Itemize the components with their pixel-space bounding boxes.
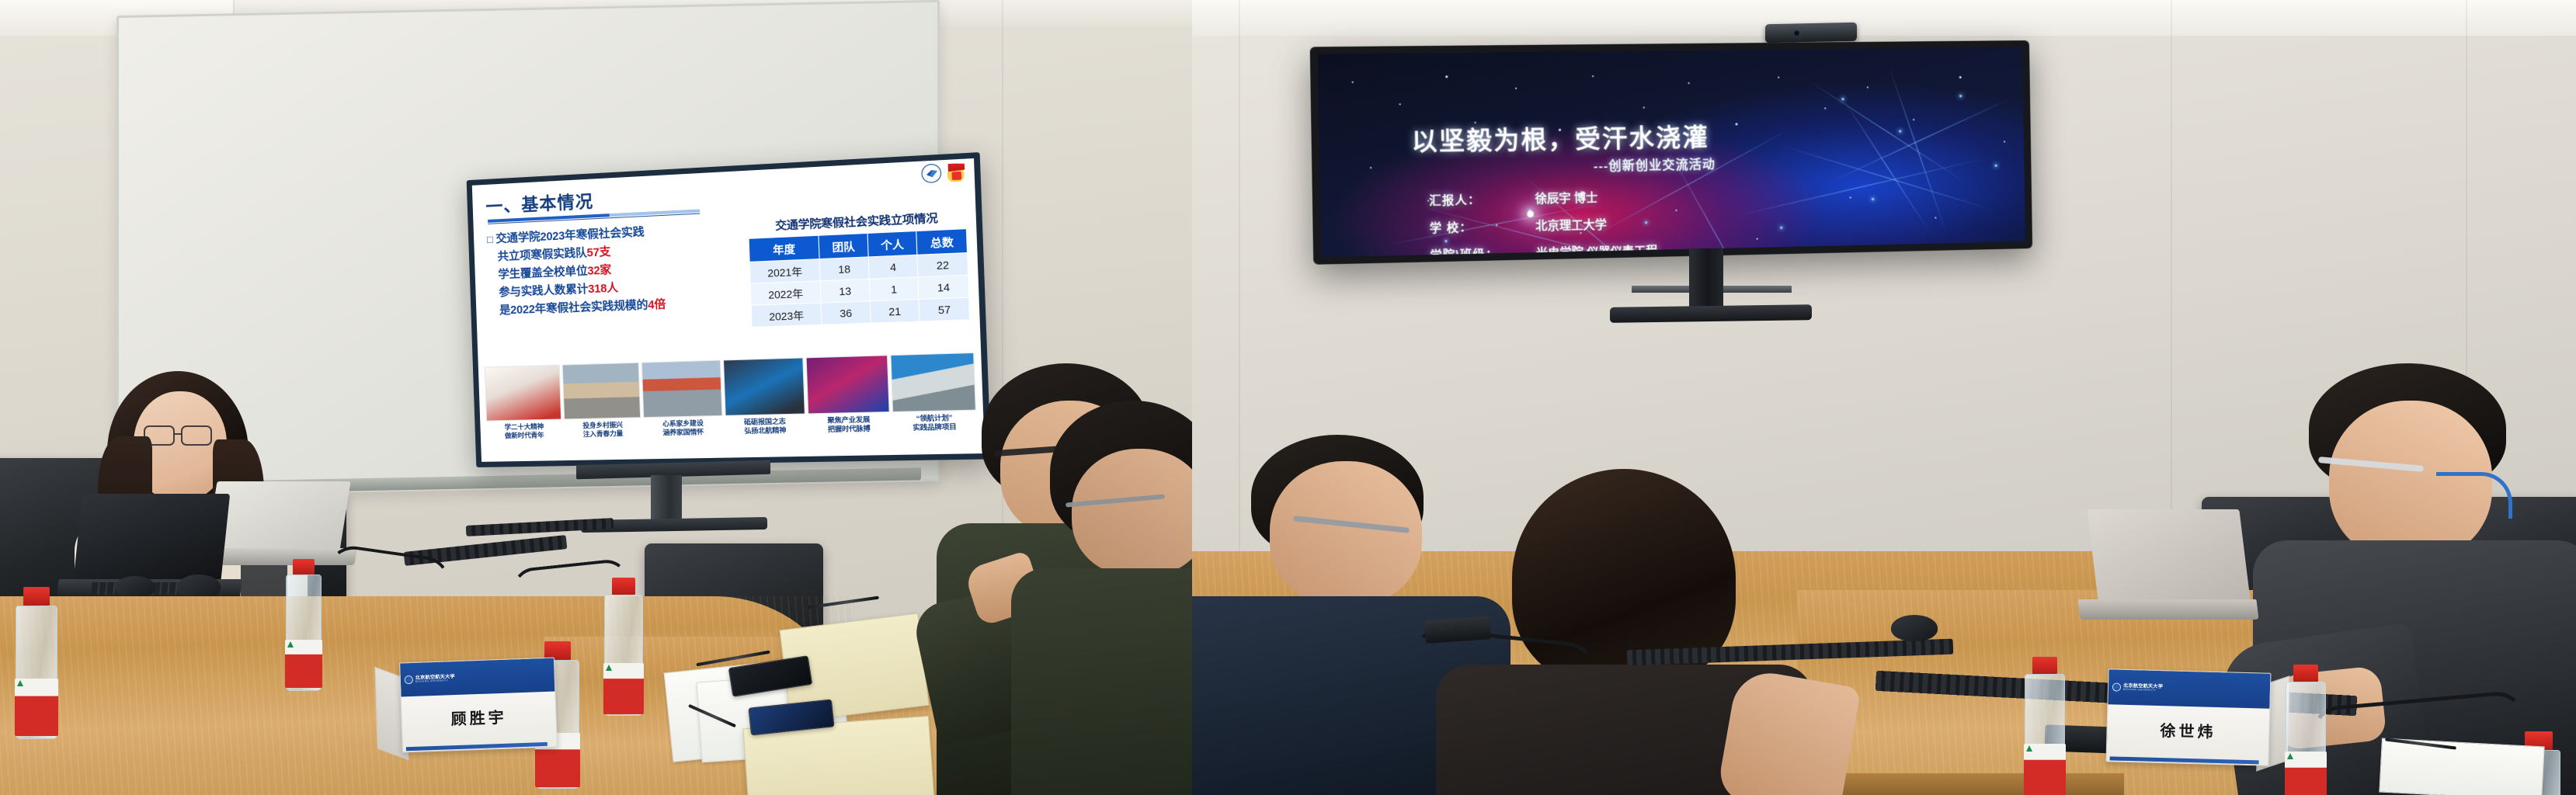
practice-photo-icon: [562, 363, 641, 420]
head: [1270, 461, 1422, 606]
slide-heading: 一、基本情况: [485, 168, 968, 218]
info-row: 学 校： 北京理工大学: [1430, 215, 1657, 237]
head: [1072, 449, 1192, 576]
slide-logos: [921, 162, 967, 183]
attendee-name: 徐世炜: [2107, 704, 2270, 756]
bullet-highlight: 4倍: [648, 298, 666, 311]
photo-caption: 砥砺报国之志 弘扬北航精神: [725, 415, 805, 437]
university-seal-icon: [2112, 682, 2121, 691]
photo-caption: 投身乡村振兴 注入青春力量: [564, 418, 641, 439]
projector-screen: 一、基本情况 □ 交通学院2023年寒假社会实践 共立项寒假实践队57支 学生覆…: [467, 152, 992, 467]
photo-card: 投身乡村振兴 注入青春力量: [562, 363, 642, 457]
wall-mounted-tv: 以坚毅为根，受汗水浇灌 ---创新创业交流活动 汇报人： 徐辰宇 博士 学 校：…: [1310, 40, 2032, 265]
tv-slide-title: 以坚毅为根，受汗水浇灌: [1411, 117, 1709, 158]
laptop-base[interactable]: [2077, 599, 2258, 620]
col-total: 总数: [916, 229, 967, 255]
tv-stand-column: [1689, 248, 1723, 312]
bottle-label: [603, 663, 644, 714]
photo-caption: 学二十大精神 做新时代青年: [486, 419, 562, 441]
glasses-icon: [144, 425, 175, 446]
bottle-cap: [2032, 657, 2057, 674]
practice-photo-icon: [485, 365, 562, 422]
bottle-cap: [612, 578, 635, 595]
info-value: 北京理工大学: [1535, 216, 1607, 234]
info-value: 徐辰宇 博士: [1535, 189, 1597, 207]
leaf-icon: [2026, 745, 2032, 752]
water-bottle[interactable]: [604, 578, 643, 716]
university-seal-icon: [405, 675, 413, 684]
document[interactable]: [2379, 738, 2544, 795]
bullet-text: 参与实践人数累计: [499, 283, 589, 300]
bottle-label: [2024, 744, 2066, 795]
bottle-label: [15, 679, 58, 736]
bullet-text: 交通学院2023年寒假社会实践: [495, 226, 645, 245]
info-row: 学院\班级： 光电学院 仪器仪表工程: [1430, 241, 1657, 257]
bottle-label: [285, 640, 322, 688]
photo-card: 心系家乡建设 涵养家国情怀: [641, 360, 724, 457]
beihang-seal-icon: [921, 163, 941, 183]
glasses-icon: [181, 425, 212, 446]
slide-photo-strip: 学二十大精神 做新时代青年 投身乡村振兴 注入青春力量 心系家乡建设 涵养家国情…: [485, 352, 978, 459]
laptop-lid[interactable]: [73, 494, 230, 585]
info-label: 学院\班级：: [1430, 245, 1536, 257]
university-name: 北京航空航天大学 BEIHANG UNIVERSITY: [415, 675, 455, 684]
water-bottle[interactable]: [2025, 657, 2065, 795]
practice-stats-table: 年度 团队 个人 总数 2021年 18 4: [749, 228, 971, 328]
col-year: 年度: [749, 235, 819, 262]
bottle-cap: [23, 587, 50, 606]
practice-photo-icon: [723, 357, 805, 415]
water-bottle[interactable]: [16, 587, 57, 739]
computer-mouse[interactable]: [1891, 615, 1938, 641]
bottle-cap: [2293, 665, 2318, 682]
info-value: 光电学院 仪器仪表工程: [1536, 241, 1658, 257]
bullet-text: 是2022年寒假社会实践规模的: [499, 299, 648, 317]
tv-slide-info-rows: 汇报人： 徐辰宇 博士 学 校： 北京理工大学 学院\班级： 光电学院 仪器仪表…: [1429, 188, 1658, 257]
info-label: 学 校：: [1430, 217, 1536, 237]
attendee-man-back-2: [1039, 401, 1192, 795]
photo-caption: 聚焦产业发展 把握时代脉搏: [808, 412, 891, 435]
nameplate-face: 北京航空航天大学 BEIHANG UNIVERSITY 徐世炜: [2105, 668, 2271, 765]
presentation-slide: 一、基本情况 □ 交通学院2023年寒假社会实践 共立项寒假实践队57支 学生覆…: [472, 158, 985, 462]
bullet-text: 学生覆盖全校单位: [498, 265, 588, 281]
photo-card: 学二十大精神 做新时代青年: [485, 365, 563, 459]
bullet-marker: □: [487, 234, 493, 245]
hoodie-blue-lining: [2436, 472, 2512, 519]
practice-photo-icon: [641, 360, 722, 418]
nameplate-band: 北京航空航天大学 BEIHANG UNIVERSITY: [400, 658, 554, 697]
university-name: 北京航空航天大学 BEIHANG UNIVERSITY: [2123, 683, 2163, 692]
jacket: [1011, 568, 1192, 795]
leaf-icon: [606, 665, 612, 671]
screenshot-stage: 一、基本情况 □ 交通学院2023年寒假社会实践 共立项寒假实践队57支 学生覆…: [0, 0, 2576, 795]
bullet-highlight: 32家: [587, 264, 611, 278]
leaf-icon: [287, 641, 294, 647]
tv-slide-subtitle: ---创新创业交流活动: [1594, 155, 1716, 175]
attendee-name: 顾胜宇: [402, 692, 557, 743]
col-individual: 个人: [867, 231, 917, 257]
photo-card: 砥砺报国之志 弘扬北航精神: [723, 357, 807, 454]
right-photo: 以坚毅为根，受汗水浇灌 ---创新创业交流活动 汇报人： 徐辰宇 博士 学 校：…: [1192, 0, 2576, 795]
nameplate-face: 北京航空航天大学 BEIHANG UNIVERSITY 顾胜宇: [399, 658, 558, 753]
nameplate-band: 北京航空航天大学 BEIHANG UNIVERSITY: [2108, 669, 2270, 708]
practice-photo-icon: [805, 355, 889, 414]
info-label: 汇报人：: [1429, 190, 1535, 209]
youth-league-emblem-icon: [945, 162, 967, 182]
photo-caption: 心系家乡建设 涵养家国情怀: [644, 416, 723, 439]
photo-card: 聚焦产业发展 把握时代脉搏: [805, 355, 891, 453]
tv-screen: 以坚毅为根，受汗水浇灌 ---创新创业交流活动 汇报人： 徐辰宇 博士 学 校：…: [1318, 47, 2025, 257]
water-bottle[interactable]: [2286, 665, 2326, 795]
info-row: 汇报人： 徐辰宇 博士: [1429, 188, 1656, 209]
conference-microphone[interactable]: [1424, 616, 1491, 644]
laptop-lid[interactable]: [2087, 509, 2251, 607]
video-conference-camera: [1765, 23, 1857, 43]
leaf-icon: [2287, 753, 2293, 759]
slide-bullet-list: □ 交通学院2023年寒假社会实践 共立项寒假实践队57支 学生覆盖全校单位32…: [482, 219, 749, 336]
col-team: 团队: [819, 233, 868, 259]
bullet-highlight: 57支: [586, 246, 610, 260]
leaf-icon: [17, 680, 23, 686]
glasses-bridge: [174, 433, 182, 435]
bullet-highlight: 318人: [588, 282, 618, 296]
water-bottle[interactable]: [286, 559, 322, 691]
bullet-text: 共立项寒假实践队: [497, 247, 586, 263]
tv-stand-base: [1610, 304, 1812, 323]
ceiling-panel: [1192, 0, 2576, 36]
bottle-cap: [293, 559, 315, 575]
nameplate-left: 北京航空航天大学 BEIHANG UNIVERSITY 顾胜宇: [399, 658, 558, 753]
bottle-label: [2285, 752, 2327, 795]
left-photo: 一、基本情况 □ 交通学院2023年寒假社会实践 共立项寒假实践队57支 学生覆…: [0, 0, 1192, 795]
nameplate-right: 北京航空航天大学 BEIHANG UNIVERSITY 徐世炜: [2105, 668, 2271, 765]
attendee-woman-back: [1462, 469, 1804, 795]
computer-mouse[interactable]: [115, 576, 155, 598]
